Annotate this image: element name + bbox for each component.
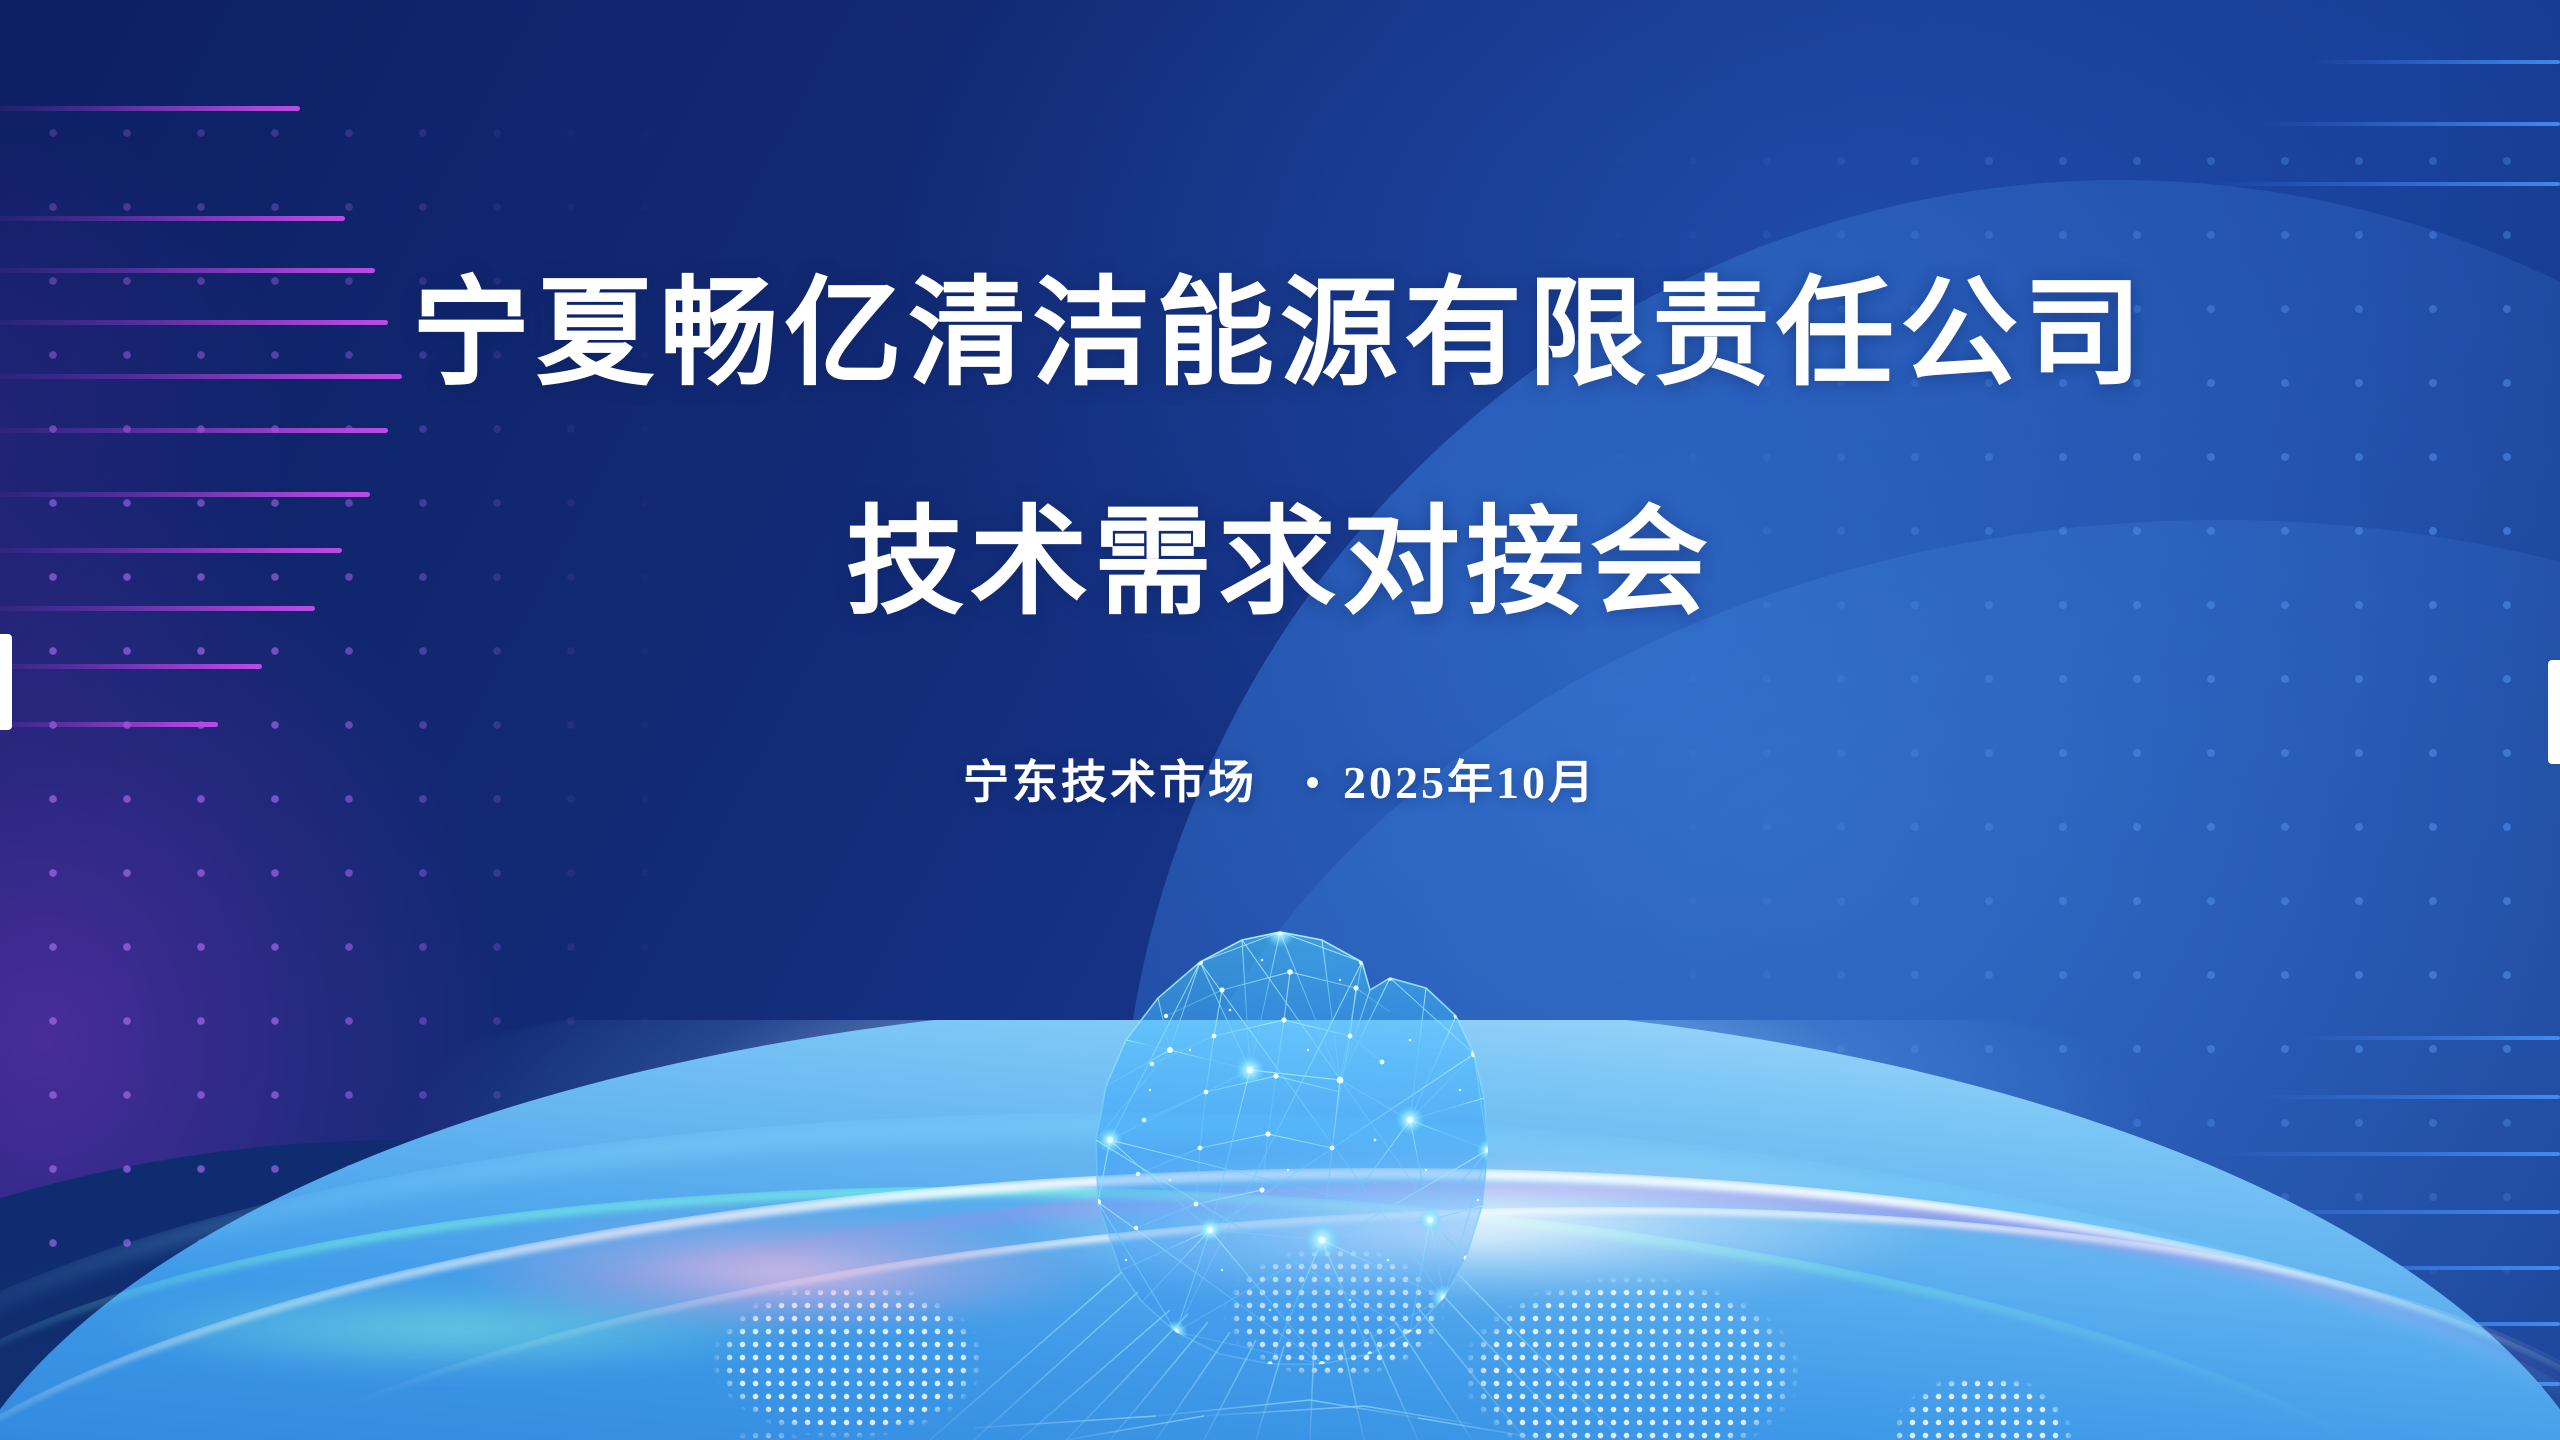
blue-gradient-lines <box>2000 0 2560 1440</box>
wireframe-clasped-fists-handshake-icon <box>870 840 1690 1440</box>
dotted-world-globe-icon <box>0 1020 2560 1440</box>
bottom-left-curve-shape <box>0 1140 1700 1440</box>
subtitle-date: 2025年10月 <box>1343 760 1597 806</box>
page-title-line-2: 技术需求对接会 <box>0 505 2560 623</box>
right-swoosh-shape-secondary <box>1120 520 2560 1440</box>
subtitle-organization: 宁东技术市场 <box>963 757 1257 808</box>
left-edge-tick <box>0 634 12 730</box>
right-edge-tick <box>2548 660 2560 764</box>
page-title-line-1: 宁夏畅亿清洁能源有限责任公司 <box>0 276 2560 394</box>
magenta-gradient-lines <box>0 0 560 900</box>
right-swoosh-shape <box>1120 180 2560 1440</box>
left-purple-wash <box>0 0 780 1440</box>
subtitle: 宁东技术市场 • 2025年10月 <box>0 760 2560 806</box>
cover-slide: 宁夏畅亿清洁能源有限责任公司 技术需求对接会 宁东技术市场 • 2025年10月 <box>0 0 2560 1440</box>
dot-grid-pattern-right <box>1560 110 2560 1300</box>
dot-grid-pattern-left <box>0 86 700 1266</box>
subtitle-separator-bullet: • <box>1271 763 1328 803</box>
